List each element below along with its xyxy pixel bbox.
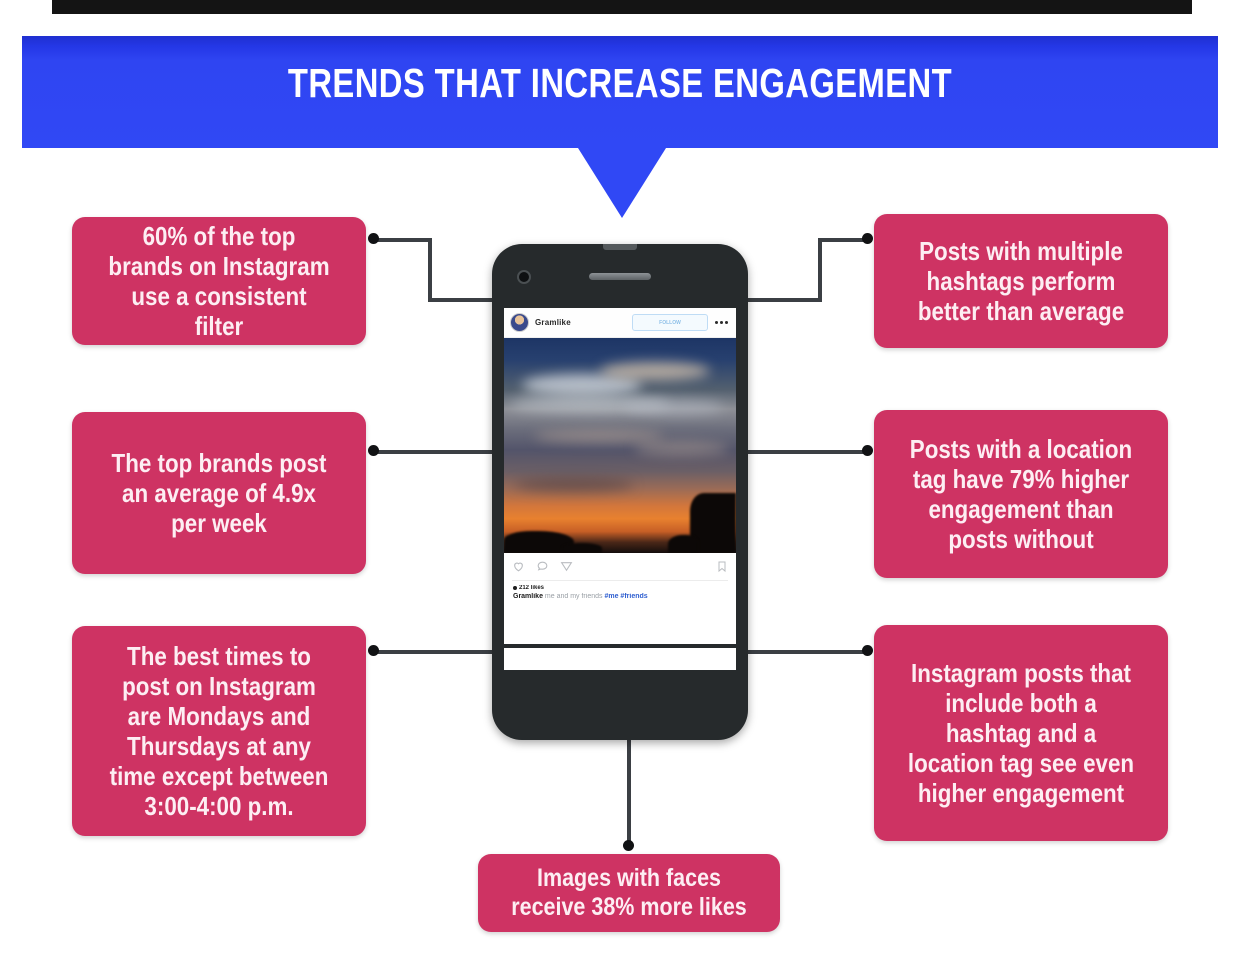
- fact-box-left-2: The top brands post an average of 4.9x p…: [72, 412, 366, 574]
- connector-right-2-dot: [862, 445, 873, 456]
- earpiece-speaker: [589, 273, 651, 280]
- fact-text: The best times to post on Instagram are …: [105, 641, 334, 822]
- screen-bottom-fill: [504, 648, 736, 670]
- caption-username[interactable]: Gramlike: [513, 593, 543, 600]
- infographic-canvas: TRENDS THAT INCREASE ENGAGEMENT 60% of t…: [0, 0, 1244, 960]
- fact-box-right-1: Posts with multiple hashtags perform bet…: [874, 214, 1168, 348]
- connector-left-1-segment-a: [374, 238, 432, 242]
- like-count-row: 212 likes: [513, 585, 731, 591]
- cloud-shape: [514, 478, 634, 492]
- fact-box-right-2: Posts with a location tag have 79% highe…: [874, 410, 1168, 578]
- fact-box-left-1: 60% of the top brands on Instagram use a…: [72, 217, 366, 345]
- fact-text: Instagram posts that include both a hash…: [907, 658, 1136, 809]
- connector-right-2-line: [740, 450, 872, 454]
- cloud-shape: [534, 430, 664, 442]
- top-black-bar: [52, 0, 1192, 14]
- post-meta: 212 likes Gramlike me and my friends #me…: [513, 585, 731, 601]
- like-dot-icon: [513, 586, 517, 590]
- avatar: [510, 313, 529, 332]
- fact-text: Images with faces receive 38% more likes: [511, 864, 747, 922]
- fact-box-right-3: Instagram posts that include both a hash…: [874, 625, 1168, 841]
- header-arrow-pointer: [578, 148, 666, 218]
- connector-right-1-segment-b: [818, 238, 822, 302]
- connector-right-3-dot: [862, 645, 873, 656]
- connector-bottom-line: [627, 740, 631, 848]
- cloud-shape: [600, 362, 710, 380]
- fact-text: The top brands post an average of 4.9x p…: [105, 448, 334, 538]
- bookmark-save-icon[interactable]: [716, 560, 728, 573]
- post-username[interactable]: Gramlike: [535, 318, 571, 327]
- fact-text: Posts with a location tag have 79% highe…: [907, 434, 1136, 555]
- cloud-shape: [634, 442, 729, 455]
- follow-button[interactable]: FOLLOW: [632, 314, 708, 331]
- like-count: 212 likes: [519, 585, 544, 591]
- horizon-silhouette: [668, 535, 698, 553]
- caption-text: me and my friends: [545, 593, 603, 600]
- share-send-icon[interactable]: [560, 560, 573, 573]
- fact-text: 60% of the top brands on Instagram use a…: [105, 221, 334, 342]
- post-caption: Gramlike me and my friends #me #friends: [513, 593, 731, 601]
- header-banner: TRENDS THAT INCREASE ENGAGEMENT: [22, 36, 1218, 148]
- comment-bubble-icon[interactable]: [536, 560, 549, 573]
- connector-right-3-line: [740, 650, 872, 654]
- phone-screen: Gramlike FOLLOW: [504, 308, 736, 644]
- post-divider: [512, 580, 728, 581]
- connector-left-3-dot: [368, 645, 379, 656]
- cloud-shape: [624, 400, 724, 414]
- post-header: Gramlike FOLLOW: [504, 308, 736, 338]
- post-photo-sunset: [504, 338, 736, 553]
- front-camera-icon: [517, 270, 531, 284]
- fact-text: Posts with multiple hashtags perform bet…: [907, 236, 1136, 326]
- fact-box-left-3: The best times to post on Instagram are …: [72, 626, 366, 836]
- page-title: TRENDS THAT INCREASE ENGAGEMENT: [142, 60, 1099, 107]
- post-action-bar: [504, 553, 736, 579]
- connector-left-2-dot: [368, 445, 379, 456]
- phone-top-tab: [603, 244, 637, 250]
- connector-right-1-dot: [862, 233, 873, 244]
- connector-bottom-dot: [623, 840, 634, 851]
- connector-left-1-dot: [368, 233, 379, 244]
- more-options-icon[interactable]: [715, 321, 728, 324]
- connector-left-1-segment-b: [428, 238, 432, 302]
- horizon-silhouette: [562, 543, 602, 553]
- connector-right-1-segment-a: [740, 298, 822, 302]
- phone-mockup: Gramlike FOLLOW: [492, 244, 748, 740]
- like-heart-icon[interactable]: [512, 560, 525, 573]
- caption-hashtags[interactable]: #me #friends: [604, 593, 647, 600]
- fact-box-bottom: Images with faces receive 38% more likes: [478, 854, 780, 932]
